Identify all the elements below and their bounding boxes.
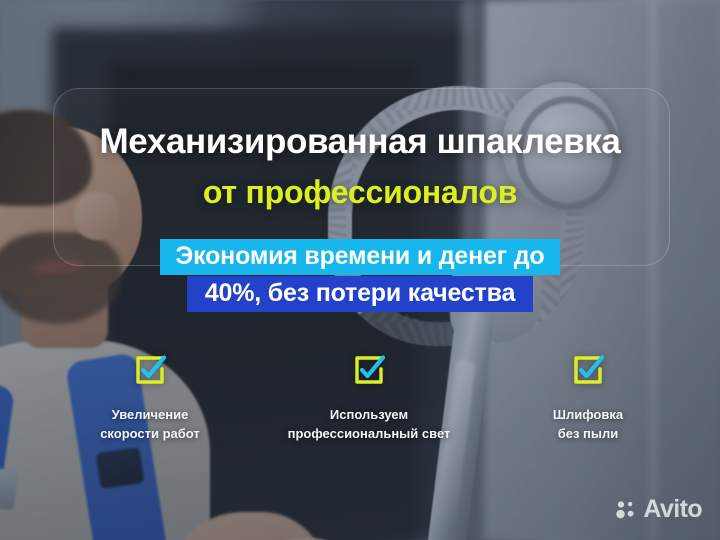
checkbox-checked-icon	[570, 352, 606, 388]
headline-primary: Механизированная шпаклевка	[0, 124, 720, 159]
feature-label-line1: Используем	[288, 405, 451, 424]
checkbox-checked-icon	[351, 352, 387, 388]
feature-label-line1: Увеличение	[100, 405, 200, 424]
feature-item-speed: Увеличение скорости работ	[50, 352, 250, 443]
ad-content: Механизированная шпаклевка от профессион…	[0, 0, 720, 540]
feature-label-light: Используем профессиональный свет	[288, 405, 451, 443]
savings-banner: Экономия времени и денег до 40%, без пот…	[0, 239, 720, 312]
avito-watermark: Avito	[615, 497, 702, 522]
features-list: Увеличение скорости работ Используем про…	[50, 352, 688, 443]
feature-label-line1: Шлифовка	[553, 405, 623, 424]
feature-label-speed: Увеличение скорости работ	[100, 405, 200, 443]
feature-label-line2: скорости работ	[100, 424, 200, 443]
checkbox-checked-icon	[132, 352, 168, 388]
feature-label-line2: без пыли	[553, 424, 623, 443]
feature-label-line2: профессиональный свет	[288, 424, 451, 443]
savings-banner-line1: Экономия времени и денег до	[160, 239, 561, 275]
avito-dots-logo	[615, 499, 637, 521]
feature-label-dustless: Шлифовка без пыли	[553, 405, 623, 443]
headline-secondary: от профессионалов	[0, 176, 720, 208]
feature-item-light: Используем профессиональный свет	[269, 352, 469, 443]
feature-item-dustless: Шлифовка без пыли	[488, 352, 688, 443]
avito-wordmark: Avito	[643, 497, 702, 522]
advertisement-banner: Механизированная шпаклевка от профессион…	[0, 0, 720, 540]
savings-banner-line2: 40%, без потери качества	[187, 276, 533, 312]
